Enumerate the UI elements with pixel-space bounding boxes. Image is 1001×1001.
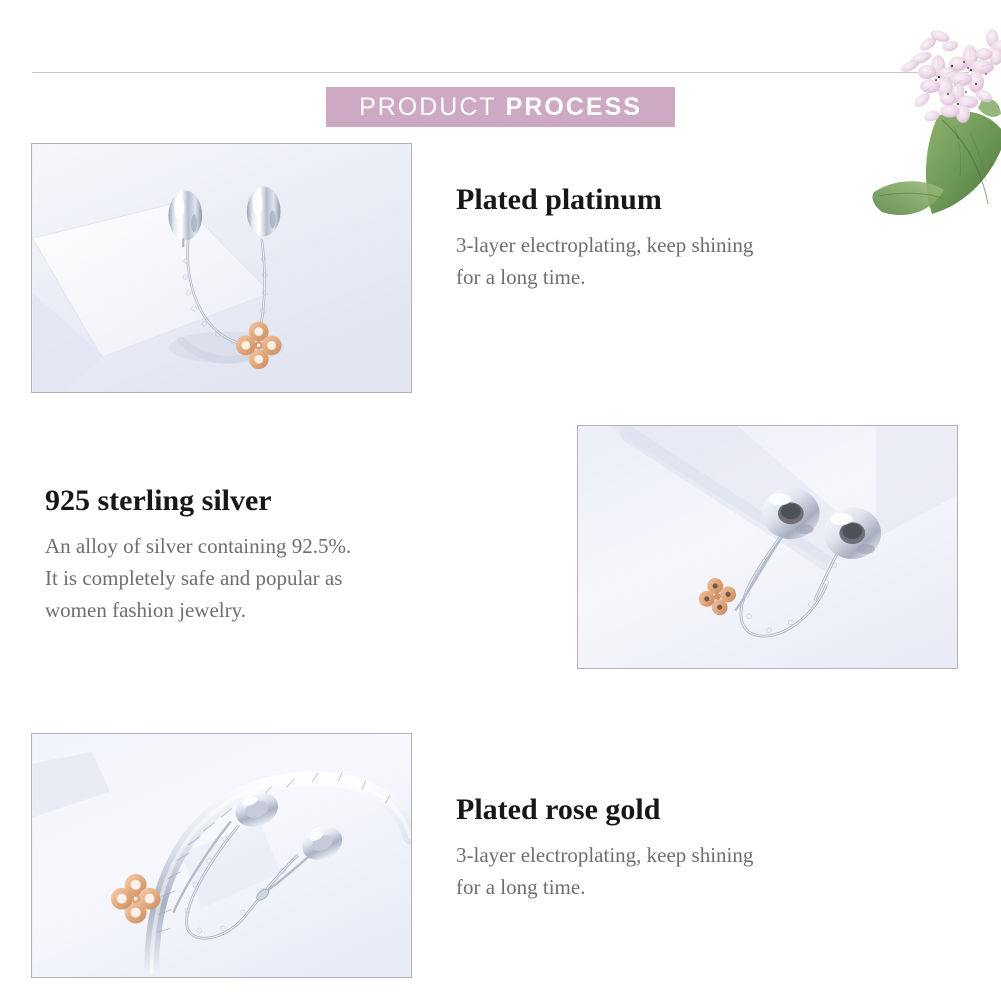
silver-round-bead-lower bbox=[824, 507, 882, 559]
section-body-line: for a long time. bbox=[456, 262, 896, 294]
section-text-925-sterling-silver: 925 sterling silver An alloy of silver c… bbox=[45, 484, 515, 627]
section-body-line: women fashion jewelry. bbox=[45, 595, 515, 627]
section-text-plated-platinum: Plated platinum 3-layer electroplating, … bbox=[456, 183, 896, 294]
section-body-line: 3-layer electroplating, keep shining bbox=[456, 840, 896, 872]
product-process-page: PRODUCT PROCESS bbox=[0, 0, 1001, 1001]
section-text-plated-rose-gold: Plated rose gold 3-layer electroplating,… bbox=[456, 793, 896, 904]
silver-bead-right bbox=[247, 187, 281, 237]
section-title: Plated platinum bbox=[456, 183, 896, 216]
page-title-word-process: PROCESS bbox=[506, 93, 642, 122]
page-header: PRODUCT PROCESS bbox=[0, 40, 1001, 96]
section-body: 3-layer electroplating, keep shining for… bbox=[456, 840, 896, 904]
section-title: 925 sterling silver bbox=[45, 484, 515, 517]
page-title-word-product: PRODUCT bbox=[359, 93, 497, 122]
product-photo-plated-rose-gold[interactable] bbox=[31, 733, 412, 978]
page-title-banner: PRODUCT PROCESS bbox=[326, 87, 675, 127]
product-photo-plated-platinum[interactable] bbox=[31, 143, 412, 393]
section-body-line: An alloy of silver containing 92.5%. bbox=[45, 531, 515, 563]
silver-round-bead-upper bbox=[762, 487, 820, 539]
section-body-line: 3-layer electroplating, keep shining bbox=[456, 230, 896, 262]
header-divider-line bbox=[32, 72, 969, 73]
section-title: Plated rose gold bbox=[456, 793, 896, 826]
section-body-line: It is completely safe and popular as bbox=[45, 563, 515, 595]
section-body-line: for a long time. bbox=[456, 872, 896, 904]
section-body: An alloy of silver containing 92.5%. It … bbox=[45, 531, 515, 627]
product-photo-925-sterling-silver[interactable] bbox=[577, 425, 958, 669]
section-body: 3-layer electroplating, keep shining for… bbox=[456, 230, 896, 294]
